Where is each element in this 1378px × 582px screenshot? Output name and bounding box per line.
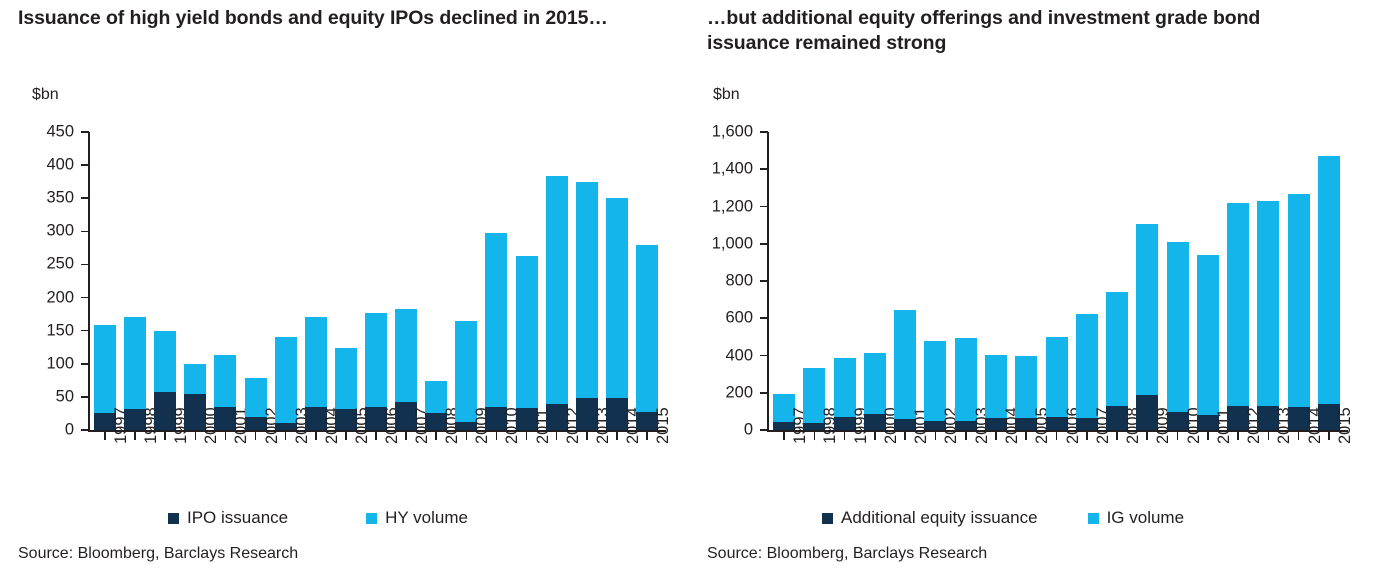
bar-segment-lower <box>864 414 886 430</box>
legend-label: IPO issuance <box>187 508 288 528</box>
y-axis-line <box>88 132 90 432</box>
bar-segment-upper <box>275 337 297 424</box>
bar-segment-upper <box>335 348 357 410</box>
x-axis-tick-mark <box>1237 432 1239 440</box>
y-axis-tick-mark <box>81 297 89 299</box>
x-axis-tick-mark <box>345 432 347 440</box>
bar-segment-upper <box>1076 314 1098 418</box>
y-axis-tick-label: 450 <box>12 123 74 142</box>
bar-segment-lower <box>1167 412 1189 430</box>
bar-segment-upper <box>94 325 116 412</box>
x-axis-tick-mark <box>1207 432 1209 440</box>
bar-segment-upper <box>485 233 507 408</box>
y-axis-tick-label: 50 <box>12 387 74 406</box>
bar-segment-upper <box>1106 292 1128 406</box>
bar-segment-lower <box>576 398 598 430</box>
legend-swatch-icon <box>822 513 833 524</box>
panel-left: Issuance of high yield bonds and equity … <box>0 0 689 582</box>
bar-segment-lower <box>1046 417 1068 430</box>
x-axis-tick-label: 2008 <box>443 407 462 444</box>
bar-segment-lower <box>455 422 477 430</box>
bar-segment-lower <box>546 404 568 430</box>
x-axis-tick-mark <box>904 432 906 440</box>
chart-plot-left: 0501001502002503003504004501997199819992… <box>0 0 689 582</box>
legend-item[interactable]: IPO issuance <box>168 508 288 528</box>
bar-segment-upper <box>1197 255 1219 415</box>
y-axis-tick-label: 0 <box>691 421 753 440</box>
x-axis-tick-mark <box>1086 432 1088 440</box>
page-title-left: Issuance of high yield bonds and equity … <box>18 6 658 31</box>
x-axis-tick-mark <box>965 432 967 440</box>
x-axis-tick-mark <box>526 432 528 440</box>
chart-plot-right: 02004006008001,0001,2001,4001,6001997199… <box>689 0 1378 582</box>
x-axis-tick-label: 2010 <box>1185 407 1204 444</box>
bar-segment-lower <box>1257 406 1279 430</box>
bar-segment-upper <box>305 317 327 406</box>
x-axis-tick-label: 2000 <box>202 407 221 444</box>
x-axis-tick-mark <box>1056 432 1058 440</box>
x-axis-tick-mark <box>935 432 937 440</box>
legend-label: HY volume <box>385 508 468 528</box>
x-axis-tick-label: 2011 <box>1215 409 1234 444</box>
bar-segment-upper <box>214 355 236 408</box>
page-title-right: …but additional equity offerings and inv… <box>707 6 1347 56</box>
x-axis-tick-label: 2008 <box>1124 407 1143 444</box>
bar-segment-lower <box>1318 404 1340 430</box>
legend-item[interactable]: Additional equity issuance <box>822 508 1038 528</box>
legend-swatch-icon <box>168 513 179 524</box>
x-axis-tick-mark <box>285 432 287 440</box>
y-axis-tick-mark <box>760 355 768 357</box>
bar-segment-upper <box>1046 337 1068 417</box>
y-axis-tick-mark <box>81 363 89 365</box>
x-axis-tick-label: 1999 <box>172 407 191 444</box>
bar-segment-upper <box>1227 203 1249 406</box>
x-axis-tick-mark <box>1298 432 1300 440</box>
y-axis-tick-mark <box>760 392 768 394</box>
x-axis-tick-label: 2006 <box>1064 407 1083 444</box>
x-axis-tick-label: 2000 <box>882 407 901 444</box>
y-axis-tick-mark <box>81 231 89 233</box>
bar-segment-lower <box>365 407 387 430</box>
y-axis-tick-label: 200 <box>12 288 74 307</box>
bar-segment-lower <box>1136 395 1158 430</box>
y-axis-tick-label: 200 <box>691 383 753 402</box>
y-axis-tick-mark <box>81 197 89 199</box>
bar-segment-lower <box>124 409 146 430</box>
bar-segment-lower <box>1227 406 1249 430</box>
x-axis-tick-mark <box>375 432 377 440</box>
bar-segment-upper <box>985 355 1007 418</box>
x-axis-tick-mark <box>1177 432 1179 440</box>
bar-segment-upper <box>864 353 886 414</box>
y-axis-tick-label: 1,400 <box>691 160 753 179</box>
x-axis-tick-label: 2004 <box>323 407 342 444</box>
y-axis-tick-label: 350 <box>12 189 74 208</box>
x-axis-tick-mark <box>1116 432 1118 440</box>
x-axis-tick-label: 2013 <box>1275 407 1294 444</box>
bar-segment-lower <box>894 419 916 430</box>
bar-segment-upper <box>1015 356 1037 419</box>
bar-segment-lower <box>184 394 206 430</box>
x-axis-line <box>767 430 1348 432</box>
y-axis-tick-mark <box>81 429 89 431</box>
x-axis-tick-mark <box>646 432 648 440</box>
bar-segment-upper <box>124 317 146 408</box>
y-axis-tick-mark <box>760 131 768 133</box>
bar-segment-lower <box>516 408 538 430</box>
x-axis-tick-mark <box>466 432 468 440</box>
x-axis-tick-label: 1997 <box>791 407 810 444</box>
x-axis-tick-label: 2010 <box>503 407 522 444</box>
bar-segment-upper <box>1318 156 1340 404</box>
x-axis-tick-label: 2001 <box>912 407 931 444</box>
bar-segment-upper <box>245 378 267 416</box>
bar-segment-lower <box>955 421 977 430</box>
bar-segment-upper <box>636 245 658 412</box>
bar-segment-upper <box>425 381 447 413</box>
y-axis-tick-mark <box>760 206 768 208</box>
bar-segment-lower <box>335 409 357 430</box>
legend-item[interactable]: IG volume <box>1088 508 1184 528</box>
bar-segment-lower <box>275 423 297 430</box>
x-axis-tick-mark <box>616 432 618 440</box>
x-axis-tick-mark <box>874 432 876 440</box>
x-axis-tick-mark <box>1025 432 1027 440</box>
bar-segment-lower <box>395 402 417 430</box>
x-axis-tick-mark <box>435 432 437 440</box>
x-axis-tick-label: 1999 <box>852 407 871 444</box>
x-axis-tick-label: 2002 <box>942 407 961 444</box>
x-axis-tick-mark <box>1328 432 1330 440</box>
x-axis-tick-label: 2013 <box>594 407 613 444</box>
legend-label: Additional equity issuance <box>841 508 1038 528</box>
legend-item[interactable]: HY volume <box>366 508 468 528</box>
bar-segment-upper <box>395 309 417 401</box>
x-axis-tick-label: 2009 <box>473 407 492 444</box>
bar-segment-lower <box>773 422 795 430</box>
x-axis-tick-mark <box>315 432 317 440</box>
bar-segment-lower <box>1197 415 1219 430</box>
bar-segment-upper <box>1136 224 1158 395</box>
chart-page: Issuance of high yield bonds and equity … <box>0 0 1378 582</box>
panel-right: …but additional equity offerings and inv… <box>689 0 1378 582</box>
y-axis-tick-label: 1,000 <box>691 234 753 253</box>
bar-segment-upper <box>924 341 946 421</box>
y-axis-line <box>767 132 769 432</box>
x-axis-tick-mark <box>814 432 816 440</box>
x-axis-tick-label: 2012 <box>1245 407 1264 444</box>
bar-segment-lower <box>245 417 267 430</box>
x-axis-tick-label: 2015 <box>654 407 673 444</box>
x-axis-tick-label: 2014 <box>624 407 643 444</box>
bar-segment-upper <box>516 256 538 408</box>
bar-segment-lower <box>1106 406 1128 430</box>
bar-segment-lower <box>1288 407 1310 430</box>
bar-segment-upper <box>955 338 977 421</box>
bar-segment-upper <box>365 313 387 408</box>
bar-segment-lower <box>803 423 825 430</box>
x-axis-tick-label: 2009 <box>1154 407 1173 444</box>
x-axis-tick-label: 2004 <box>1003 407 1022 444</box>
bar-segment-lower <box>305 407 327 430</box>
y-axis-tick-mark <box>81 164 89 166</box>
y-axis-tick-label: 250 <box>12 255 74 274</box>
y-axis-tick-mark <box>81 131 89 133</box>
y-axis-tick-label: 1,200 <box>691 197 753 216</box>
y-axis-tick-mark <box>760 243 768 245</box>
x-axis-tick-label: 1997 <box>112 407 131 444</box>
x-axis-tick-label: 2007 <box>413 407 432 444</box>
bar-segment-upper <box>184 364 206 394</box>
bar-segment-lower <box>834 417 856 430</box>
legend-label: IG volume <box>1107 508 1184 528</box>
bar-segment-upper <box>154 331 176 392</box>
y-axis-tick-label: 100 <box>12 354 74 373</box>
x-axis-tick-mark <box>1146 432 1148 440</box>
x-axis-tick-mark <box>405 432 407 440</box>
bar-segment-upper <box>576 182 598 398</box>
x-axis-tick-mark <box>783 432 785 440</box>
y-axis-tick-mark <box>760 168 768 170</box>
y-axis-tick-mark <box>81 330 89 332</box>
y-axis-tick-label: 1,600 <box>691 123 753 142</box>
bar-segment-lower <box>606 398 628 430</box>
bar-segment-lower <box>94 413 116 430</box>
bar-segment-lower <box>1076 418 1098 430</box>
chart-legend-left: IPO issuanceHY volume <box>168 508 468 528</box>
x-axis-tick-mark <box>255 432 257 440</box>
x-axis-tick-mark <box>1268 432 1270 440</box>
x-axis-tick-mark <box>556 432 558 440</box>
x-axis-tick-label: 2015 <box>1336 407 1355 444</box>
bar-segment-upper <box>894 310 916 419</box>
y-axis-tick-label: 600 <box>691 309 753 328</box>
x-axis-tick-label: 1998 <box>821 407 840 444</box>
y-axis-tick-mark <box>760 429 768 431</box>
source-note-right: Source: Bloomberg, Barclays Research <box>707 545 987 563</box>
bar-segment-lower <box>985 418 1007 430</box>
bar-segment-upper <box>606 198 628 399</box>
y-axis-tick-label: 300 <box>12 222 74 241</box>
y-axis-tick-mark <box>760 280 768 282</box>
bar-segment-lower <box>154 392 176 430</box>
bar-segment-upper <box>803 368 825 423</box>
bar-segment-lower <box>214 407 236 430</box>
bar-segment-upper <box>546 176 568 404</box>
x-axis-tick-mark <box>134 432 136 440</box>
bar-segment-upper <box>1288 194 1310 407</box>
x-axis-tick-label: 1998 <box>142 407 161 444</box>
chart-legend-right: Additional equity issuanceIG volume <box>822 508 1184 528</box>
x-axis-tick-label: 2006 <box>383 407 402 444</box>
bar-segment-lower <box>485 407 507 430</box>
legend-swatch-icon <box>1088 513 1099 524</box>
x-axis-tick-label: 2011 <box>534 409 553 444</box>
x-axis-line <box>88 430 666 432</box>
x-axis-tick-label: 2005 <box>1033 407 1052 444</box>
bar-segment-upper <box>455 321 477 422</box>
bar-segment-lower <box>924 421 946 430</box>
y-axis-tick-label: 400 <box>12 156 74 175</box>
x-axis-tick-label: 2003 <box>293 407 312 444</box>
x-axis-tick-label: 2005 <box>353 407 372 444</box>
bar-segment-lower <box>1015 418 1037 430</box>
y-axis-tick-label: 150 <box>12 321 74 340</box>
bar-segment-upper <box>773 394 795 422</box>
y-axis-tick-label: 0 <box>12 421 74 440</box>
x-axis-tick-mark <box>104 432 106 440</box>
x-axis-tick-mark <box>844 432 846 440</box>
x-axis-tick-label: 2014 <box>1306 407 1325 444</box>
x-axis-tick-mark <box>225 432 227 440</box>
y-axis-tick-label: 800 <box>691 272 753 291</box>
x-axis-tick-mark <box>496 432 498 440</box>
bar-segment-upper <box>1257 201 1279 406</box>
x-axis-tick-mark <box>995 432 997 440</box>
x-axis-tick-label: 2012 <box>564 407 583 444</box>
y-axis-tick-mark <box>760 317 768 319</box>
x-axis-tick-label: 2001 <box>232 407 251 444</box>
x-axis-tick-label: 2003 <box>973 407 992 444</box>
y-axis-tick-mark <box>81 264 89 266</box>
bar-segment-lower <box>636 412 658 430</box>
y-axis-unit-right: $bn <box>713 86 740 104</box>
bar-segment-lower <box>425 413 447 430</box>
x-axis-tick-mark <box>195 432 197 440</box>
legend-swatch-icon <box>366 513 377 524</box>
y-axis-unit-left: $bn <box>32 86 59 104</box>
bar-segment-upper <box>834 358 856 417</box>
y-axis-tick-label: 400 <box>691 346 753 365</box>
x-axis-tick-mark <box>586 432 588 440</box>
source-note-left: Source: Bloomberg, Barclays Research <box>18 545 298 563</box>
x-axis-tick-mark <box>164 432 166 440</box>
y-axis-tick-mark <box>81 396 89 398</box>
x-axis-tick-label: 2002 <box>263 407 282 444</box>
bar-segment-upper <box>1167 242 1189 412</box>
x-axis-tick-label: 2007 <box>1094 407 1113 444</box>
